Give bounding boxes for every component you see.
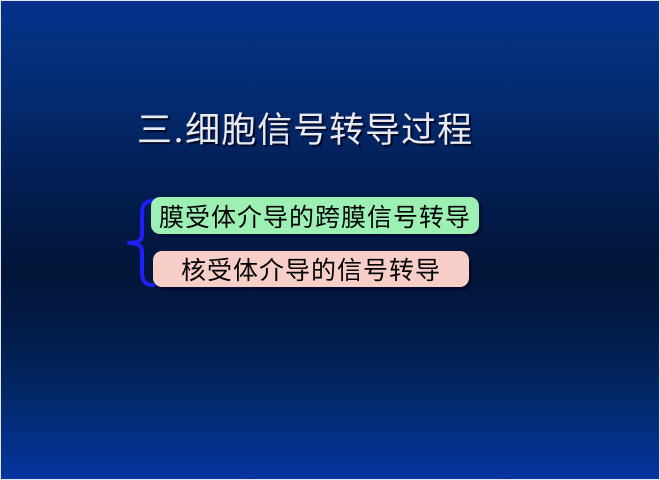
list-item-nuclear-receptor[interactable]: 核受体介导的信号转导 xyxy=(153,251,469,287)
list-item-membrane-receptor[interactable]: 膜受体介导的跨膜信号转导 xyxy=(151,197,479,234)
list-item-label: 核受体介导的信号转导 xyxy=(181,251,441,287)
page-title: 三.细胞信号转导过程 xyxy=(137,109,537,153)
presentation-slide: 三.细胞信号转导过程 膜受体介导的跨膜信号转导 核受体介导的信号转导 xyxy=(0,0,660,480)
list-item-label: 膜受体介导的跨膜信号转导 xyxy=(159,198,471,234)
